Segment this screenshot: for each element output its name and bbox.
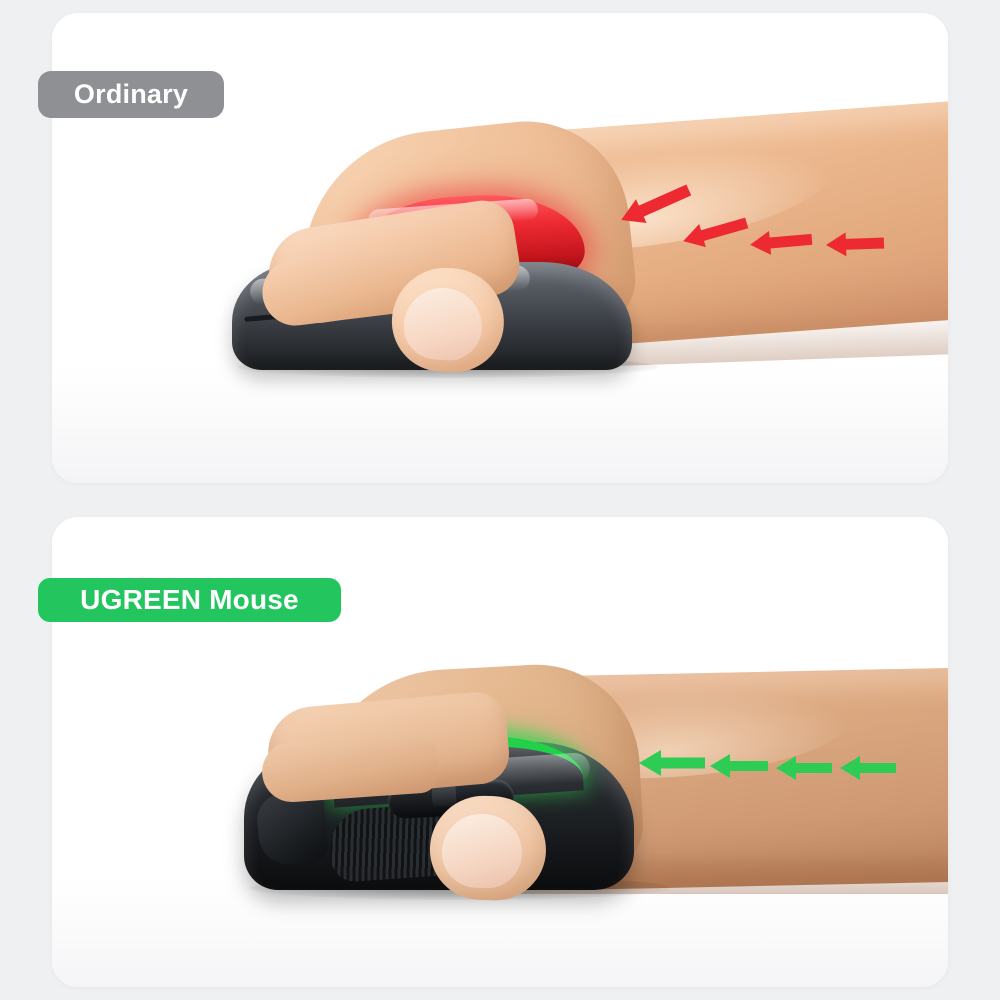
comparison-stage: Ordinary	[0, 0, 1000, 1000]
badge-ordinary: Ordinary	[38, 71, 224, 118]
alignment-arrow-green-2	[708, 752, 770, 780]
pressure-arrow-red-3	[747, 225, 815, 259]
alignment-arrow-green-1	[637, 748, 707, 778]
alignment-arrow-green-3	[774, 754, 834, 782]
middle-finger-ugreen	[260, 732, 439, 804]
badge-ugreen-mouse: UGREEN Mouse	[38, 578, 341, 622]
alignment-arrow-green-4	[838, 754, 898, 782]
pressure-arrow-red-4	[824, 229, 887, 259]
